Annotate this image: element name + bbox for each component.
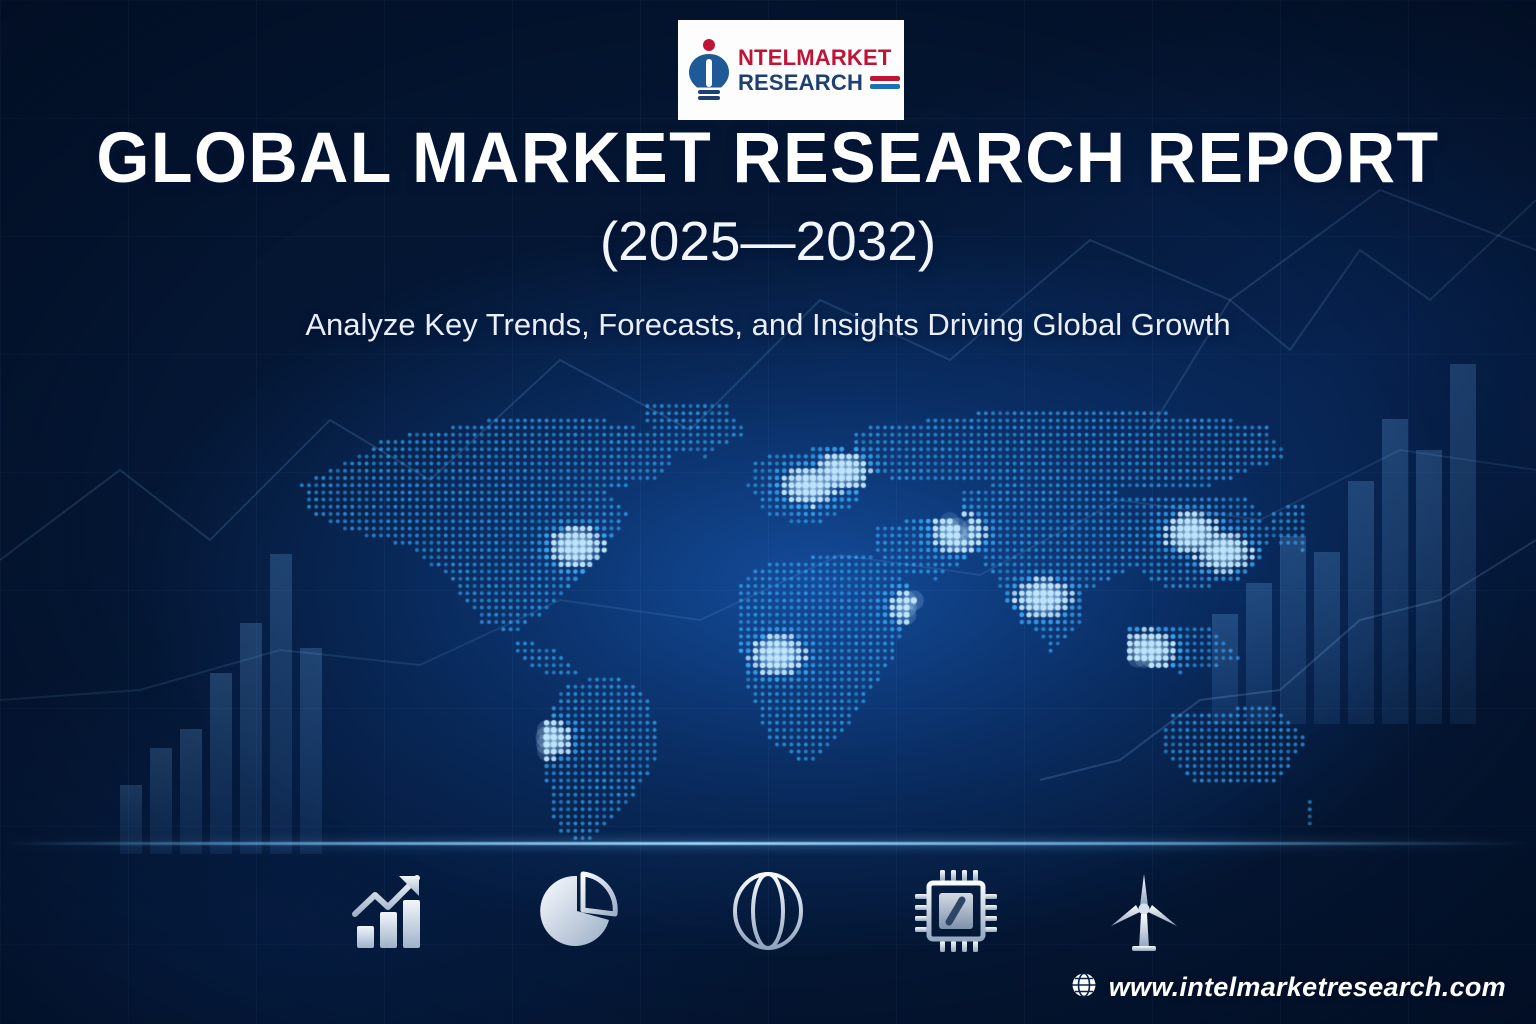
feature-icon-row	[0, 868, 1536, 954]
page-subtitle: Analyze Key Trends, Forecasts, and Insig…	[0, 307, 1536, 343]
world-map-dotted	[255, 388, 1315, 858]
headline-block: GLOBAL MARKET RESEARCH REPORT (2025—2032…	[0, 118, 1536, 343]
lightbulb-icon	[686, 38, 732, 102]
logo-text-line2: RESEARCH	[738, 72, 863, 94]
horizon-glow-line	[0, 842, 1536, 845]
forecast-period: (2025—2032)	[0, 209, 1536, 273]
website-url[interactable]: www.intelmarketresearch.com	[1071, 972, 1506, 1003]
logo-dash-marks	[870, 76, 900, 89]
logo-text-line1: NTELMARKET	[738, 47, 900, 69]
poster-canvas: NTELMARKET RESEARCH GLOBAL MARKET RESEAR…	[0, 0, 1536, 1024]
pie-chart-icon[interactable]	[537, 868, 623, 954]
brand-logo[interactable]: NTELMARKET RESEARCH	[678, 20, 904, 120]
wind-turbine-icon[interactable]	[1101, 868, 1187, 954]
globe-icon[interactable]	[725, 868, 811, 954]
microchip-icon[interactable]	[913, 868, 999, 954]
bar-chart-growth-icon[interactable]	[349, 868, 435, 954]
url-text: www.intelmarketresearch.com	[1109, 972, 1506, 1003]
globe-icon	[1071, 972, 1097, 1003]
page-title: GLOBAL MARKET RESEARCH REPORT	[31, 118, 1506, 199]
